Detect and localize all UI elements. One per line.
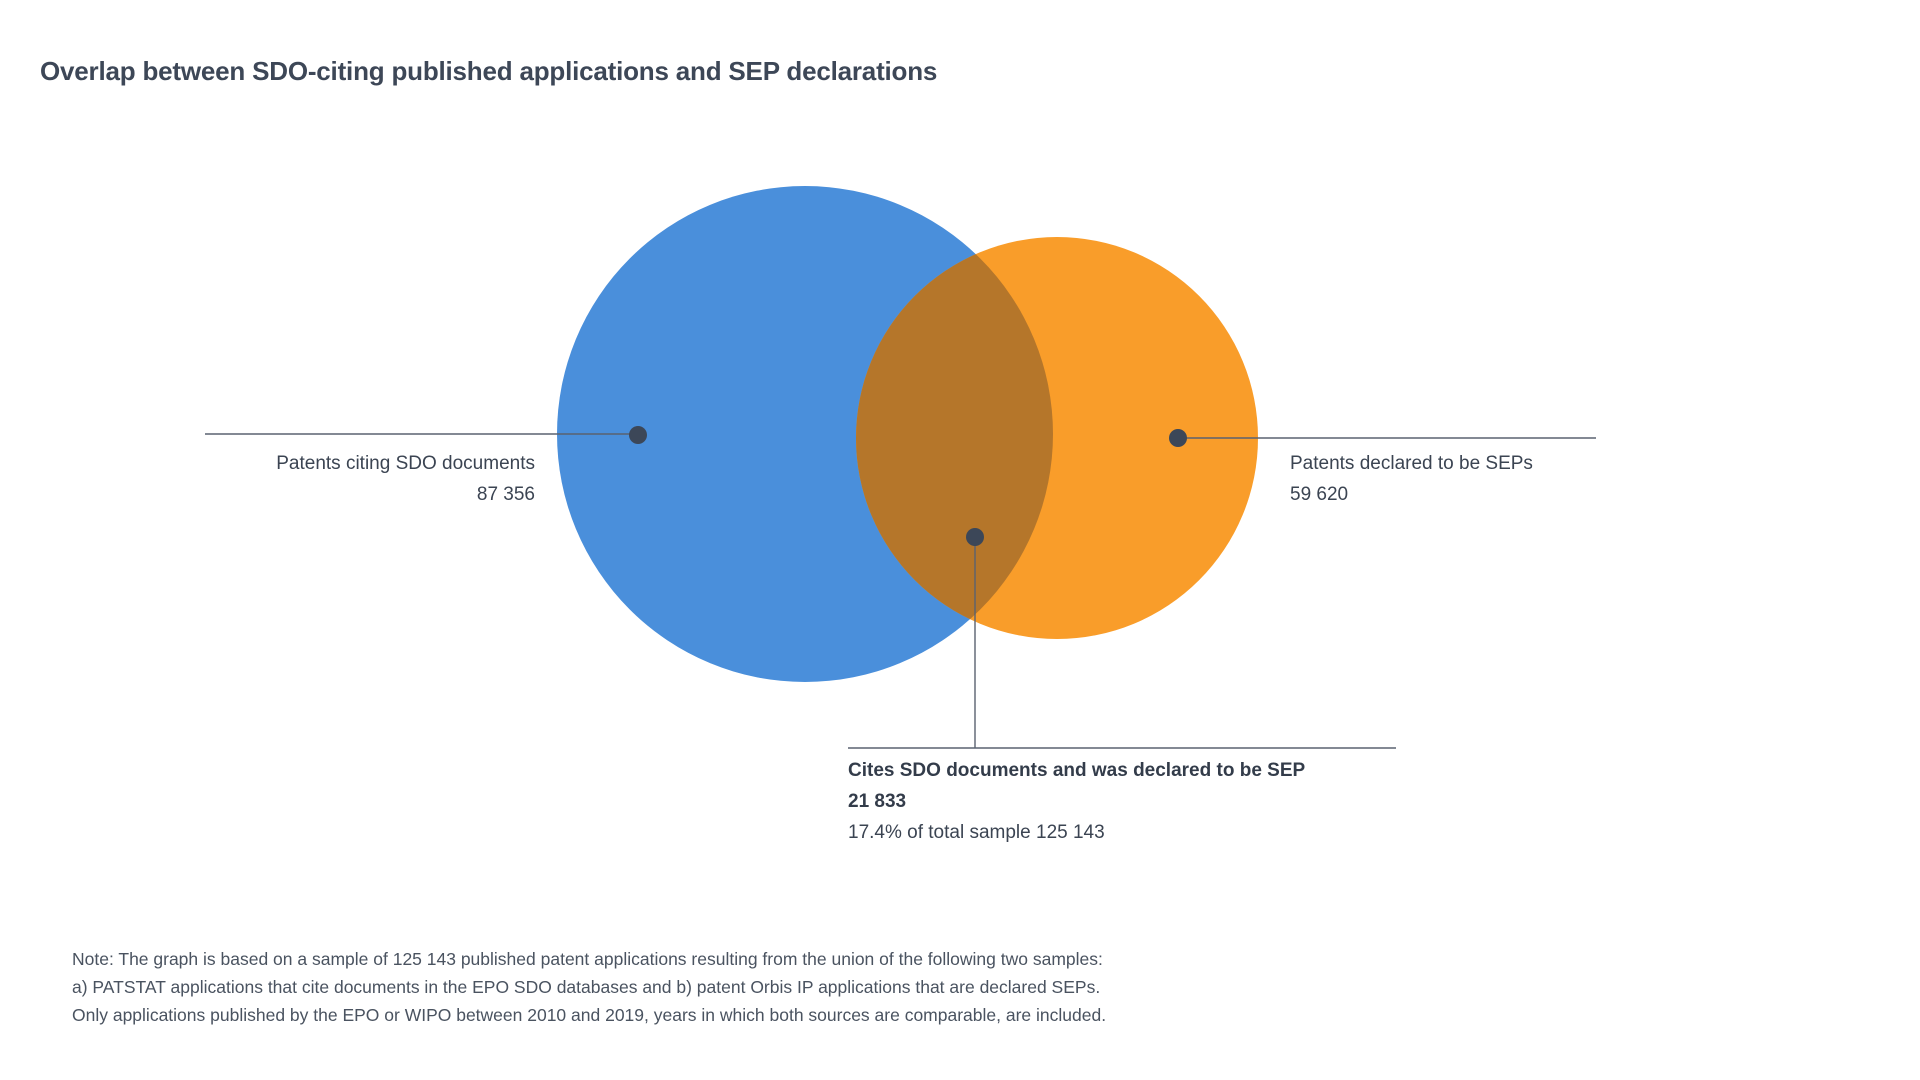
callout-intersection-value: 21 833 xyxy=(848,786,1305,817)
footnote-line-1: Note: The graph is based on a sample of … xyxy=(72,945,1106,973)
callout-intersection-name: Cites SDO documents and was declared to … xyxy=(848,755,1305,786)
callout-intersection: Cites SDO documents and was declared to … xyxy=(848,755,1305,848)
marker-dot-intersection xyxy=(966,528,984,546)
venn-figure: Overlap between SDO-citing published app… xyxy=(0,0,1920,1080)
callout-left-value: 87 356 xyxy=(205,479,535,510)
callout-intersection-share: 17.4% of total sample 125 143 xyxy=(848,817,1305,848)
marker-dot-left xyxy=(629,426,647,444)
callout-left: Patents citing SDO documents 87 356 xyxy=(205,448,535,510)
footnote-line-3: Only applications published by the EPO o… xyxy=(72,1001,1106,1029)
callout-right-value: 59 620 xyxy=(1290,479,1533,510)
callout-right-name: Patents declared to be SEPs xyxy=(1290,448,1533,479)
footnote: Note: The graph is based on a sample of … xyxy=(72,945,1106,1029)
callout-left-name: Patents citing SDO documents xyxy=(205,448,535,479)
marker-dot-right xyxy=(1169,429,1187,447)
callout-right: Patents declared to be SEPs 59 620 xyxy=(1290,448,1533,510)
footnote-line-2: a) PATSTAT applications that cite docume… xyxy=(72,973,1106,1001)
